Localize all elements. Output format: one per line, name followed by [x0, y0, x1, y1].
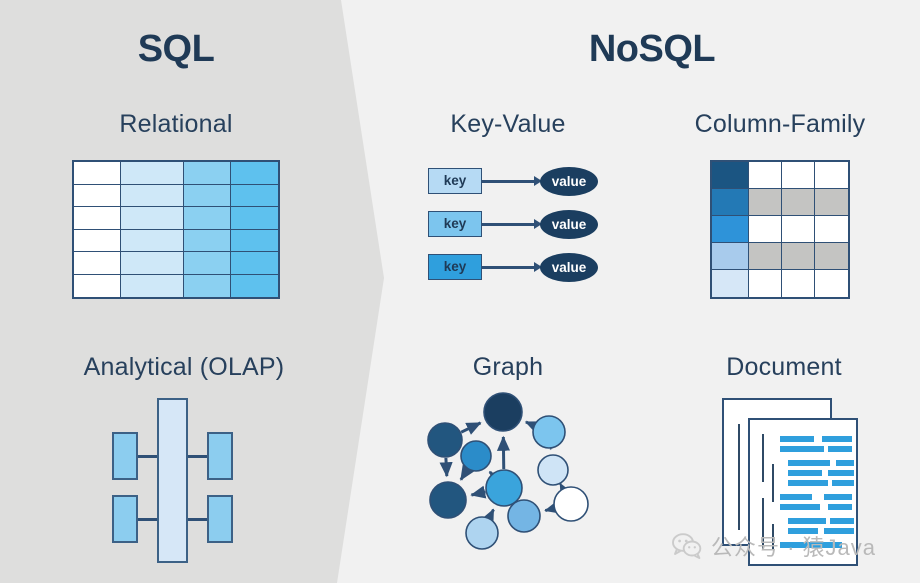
section-label-key-value: Key-Value — [408, 110, 608, 139]
relational-cell — [231, 207, 278, 230]
graph-edge — [471, 492, 485, 495]
column-family-cell — [815, 270, 848, 297]
relational-cell — [121, 207, 183, 230]
document-text-bar — [788, 518, 826, 524]
column-family-key-cell — [712, 270, 749, 297]
graph-node — [484, 393, 522, 431]
olap-connector — [185, 455, 209, 458]
graph-node — [430, 482, 466, 518]
relational-cell — [184, 275, 231, 298]
relational-cell — [121, 275, 183, 298]
column-family-cell — [749, 189, 782, 216]
column-family-cell — [815, 216, 848, 243]
document-bracket-line — [772, 464, 774, 502]
key-value-pair: keyvalue — [428, 168, 588, 194]
key-value-connector — [482, 223, 536, 226]
column-family-cell — [782, 216, 815, 243]
relational-cell — [231, 185, 278, 208]
sql-title: SQL — [0, 28, 352, 71]
key-box: key — [428, 254, 482, 280]
nosql-title: NoSQL — [404, 28, 900, 71]
document-text-bar — [832, 480, 854, 486]
value-ellipse: value — [540, 253, 598, 282]
document-bracket-line — [738, 424, 740, 530]
document-text-bar — [836, 460, 854, 466]
column-family-cell — [815, 189, 848, 216]
key-value-pair: keyvalue — [428, 211, 588, 237]
graph-diagram — [420, 390, 610, 570]
graph-node — [428, 423, 462, 457]
column-family-cell — [815, 243, 848, 270]
relational-cell — [121, 230, 183, 253]
section-label-relational: Relational — [0, 110, 352, 139]
column-family-cell — [749, 270, 782, 297]
column-family-cell — [782, 270, 815, 297]
document-text-bar — [780, 436, 814, 442]
graph-node — [508, 500, 540, 532]
relational-cell — [231, 230, 278, 253]
value-ellipse: value — [540, 167, 598, 196]
olap-fact-table-box — [157, 398, 188, 563]
graph-edge — [461, 423, 480, 432]
graph-node — [461, 441, 491, 471]
key-box: key — [428, 168, 482, 194]
column-family-key-cell — [712, 189, 749, 216]
column-family-cell — [782, 162, 815, 189]
document-bracket-line — [762, 434, 764, 482]
column-family-cell — [782, 243, 815, 270]
graph-node — [533, 416, 565, 448]
column-family-cell — [749, 216, 782, 243]
relational-cell — [184, 230, 231, 253]
document-text-bar — [828, 470, 854, 476]
document-text-bar — [780, 446, 824, 452]
column-family-key-cell — [712, 162, 749, 189]
relational-cell — [184, 252, 231, 275]
relational-cell — [231, 162, 278, 185]
relational-cell — [231, 252, 278, 275]
key-value-pair: keyvalue — [428, 254, 588, 280]
graph-svg — [420, 390, 610, 570]
olap-satellite-box — [207, 495, 233, 543]
column-family-key-cell — [712, 216, 749, 243]
graph-node — [554, 487, 588, 521]
relational-cell — [74, 252, 121, 275]
olap-star-schema-diagram — [110, 398, 252, 563]
graph-node — [466, 517, 498, 549]
watermark: 公众号 · 猿Java — [672, 530, 876, 562]
graph-edge — [461, 469, 468, 479]
document-text-bar — [828, 446, 852, 452]
key-box: key — [428, 211, 482, 237]
section-label-graph: Graph — [408, 353, 608, 382]
column-family-cell — [749, 243, 782, 270]
column-family-cell — [782, 189, 815, 216]
olap-satellite-box — [207, 432, 233, 480]
document-text-bar — [780, 494, 812, 500]
column-family-diagram — [710, 160, 850, 299]
document-text-bar — [788, 460, 830, 466]
value-ellipse: value — [540, 210, 598, 239]
relational-cell — [121, 185, 183, 208]
relational-cell — [74, 230, 121, 253]
section-label-column-family: Column-Family — [650, 110, 910, 139]
graph-node — [486, 470, 522, 506]
key-value-diagram: keyvaluekeyvaluekeyvalue — [428, 168, 588, 290]
key-value-connector — [482, 266, 536, 269]
graph-nodes-layer — [428, 393, 588, 549]
relational-cell — [121, 162, 183, 185]
document-text-bar — [788, 470, 822, 476]
key-value-connector — [482, 180, 536, 183]
graph-edge — [489, 510, 493, 518]
relational-cell — [184, 207, 231, 230]
graph-edge — [490, 472, 492, 474]
relational-cell — [74, 185, 121, 208]
relational-cell — [121, 252, 183, 275]
watermark-text: 公众号 · 猿Java — [711, 530, 876, 562]
relational-cell — [184, 162, 231, 185]
graph-edge — [446, 458, 447, 476]
graph-edge — [545, 508, 553, 510]
document-text-bar — [780, 504, 820, 510]
document-text-bar — [822, 436, 852, 442]
graph-node — [538, 455, 568, 485]
relational-cell — [74, 275, 121, 298]
relational-table-diagram — [72, 160, 280, 299]
column-family-cell — [815, 162, 848, 189]
infographic-canvas: SQL NoSQL Relational Analytical (OLAP) K… — [0, 0, 920, 583]
document-text-bar — [828, 504, 852, 510]
relational-cell — [74, 162, 121, 185]
document-text-bar — [824, 494, 852, 500]
olap-connector — [185, 518, 209, 521]
column-family-cell — [749, 162, 782, 189]
olap-satellite-box — [112, 495, 138, 543]
relational-cell — [74, 207, 121, 230]
olap-satellite-box — [112, 432, 138, 480]
relational-cell — [231, 275, 278, 298]
graph-edge — [526, 422, 533, 425]
document-text-bar — [788, 480, 828, 486]
relational-cell — [184, 185, 231, 208]
wechat-icon — [672, 533, 702, 559]
document-text-bar — [830, 518, 854, 524]
section-label-document: Document — [660, 353, 908, 382]
section-label-analytical: Analytical (OLAP) — [0, 353, 368, 382]
column-family-key-cell — [712, 243, 749, 270]
